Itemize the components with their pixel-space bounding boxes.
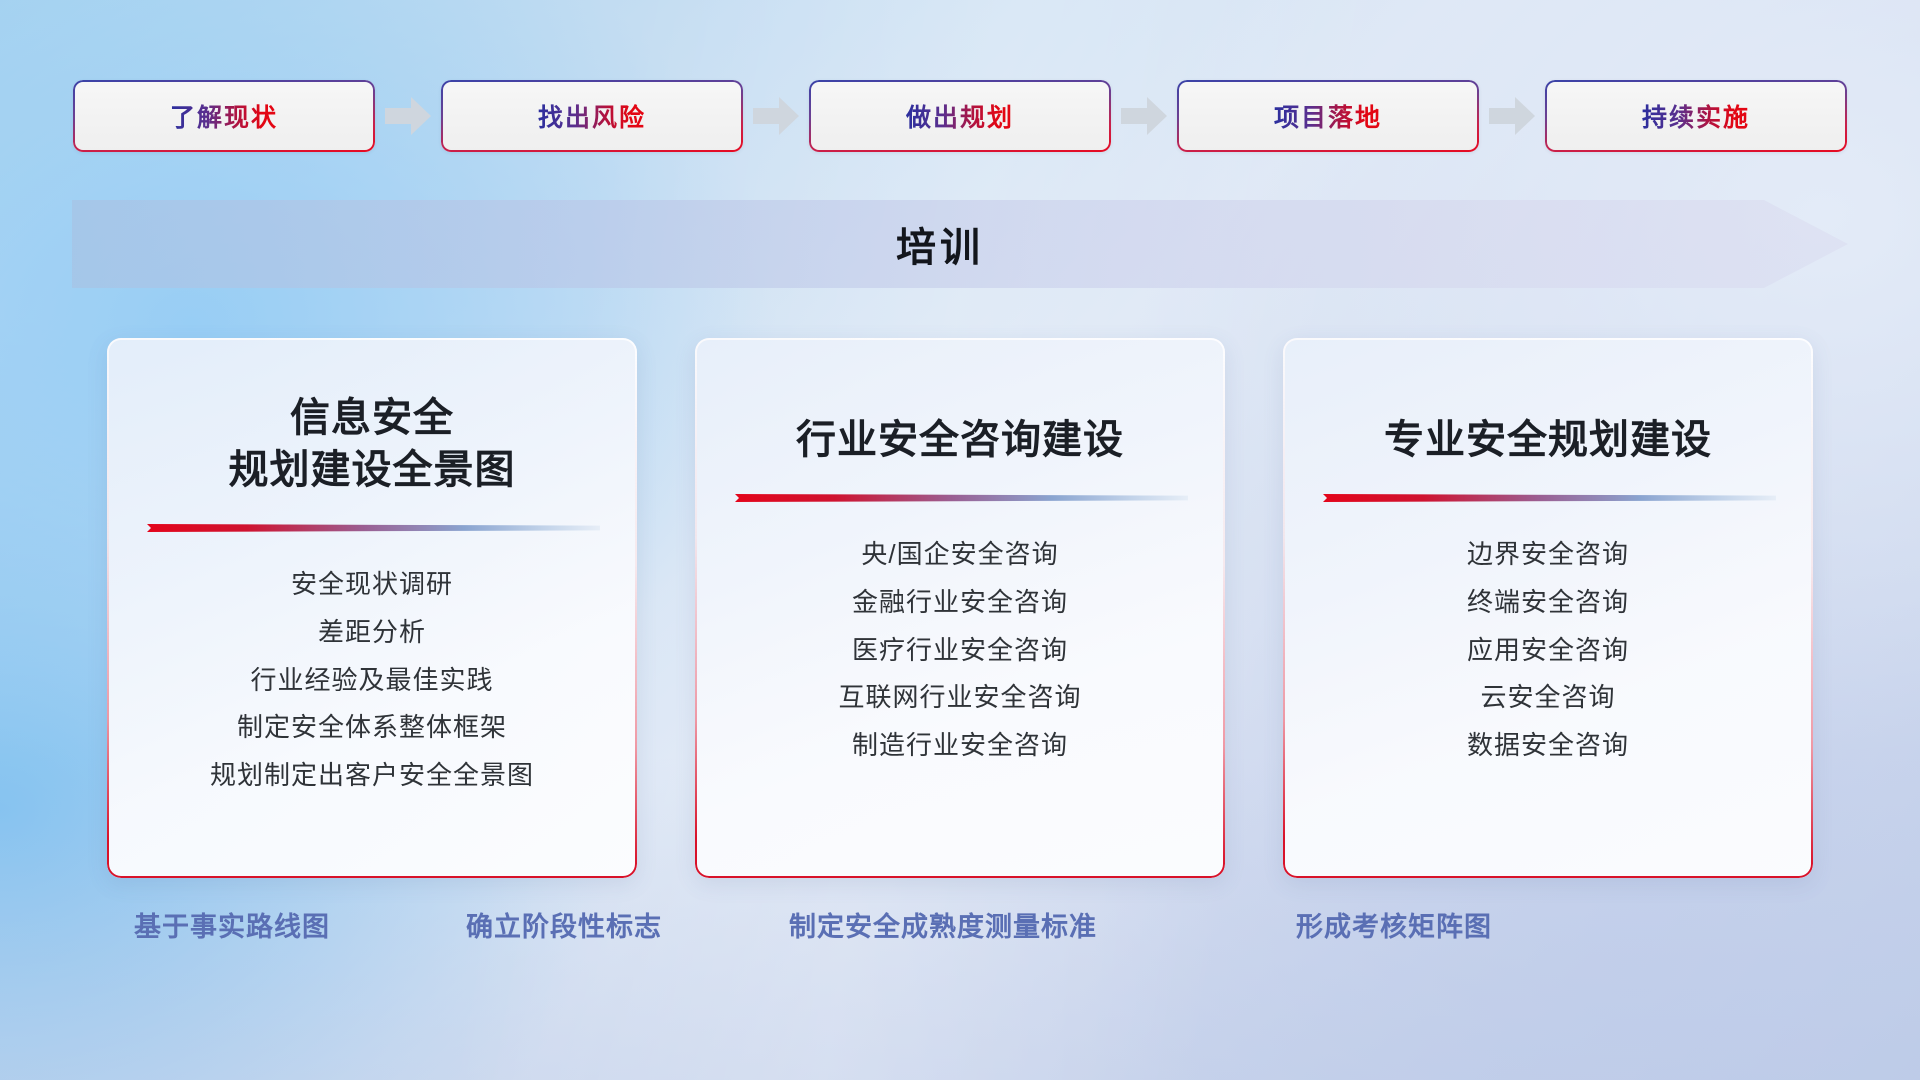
service-card-list: 安全现状调研差距分析行业经验及最佳实践制定安全体系整体框架规划制定出客户安全全景…: [210, 568, 534, 793]
service-card-list-item: 数据安全咨询: [1467, 729, 1629, 763]
service-card-list-item: 制定安全体系整体框架: [237, 711, 507, 745]
service-card-list: 边界安全咨询终端安全咨询应用安全咨询云安全咨询数据安全咨询: [1467, 538, 1629, 763]
footnote-3: 制定安全成熟度测量标准: [789, 905, 1097, 944]
card-divider-rule: [1321, 492, 1776, 504]
training-band-label: 培训: [72, 200, 1848, 288]
footnote-row: 基于事实路线图确立阶段性标志制定安全成熟度测量标准形成考核矩阵图: [0, 905, 1920, 961]
service-card-row: 信息安全 规划建设全景图安全现状调研差距分析行业经验及最佳实践制定安全体系整体框…: [0, 338, 1920, 878]
service-card-list-item: 规划制定出客户安全全景图: [210, 759, 534, 793]
process-step-4[interactable]: 项目落地: [1177, 80, 1479, 152]
process-step-1[interactable]: 了解现状: [73, 80, 375, 152]
process-step-label: 找出风险: [538, 98, 646, 134]
service-card-list-item: 医疗行业安全咨询: [852, 634, 1068, 668]
footnote-2: 确立阶段性标志: [466, 905, 662, 944]
card-divider-rule: [145, 522, 600, 534]
arrow-right-icon: [375, 80, 441, 152]
training-band: 培训: [72, 200, 1848, 288]
footnote-4: 形成考核矩阵图: [1296, 905, 1492, 944]
service-card-list-item: 云安全咨询: [1480, 681, 1615, 715]
service-card-list-item: 终端安全咨询: [1467, 586, 1629, 620]
service-card-1[interactable]: 信息安全 规划建设全景图安全现状调研差距分析行业经验及最佳实践制定安全体系整体框…: [107, 338, 637, 878]
service-card-list-item: 安全现状调研: [291, 568, 453, 602]
service-card-list-item: 制造行业安全咨询: [852, 729, 1068, 763]
slide-stage: 了解现状找出风险做出规划项目落地持续实施 培训 信息安全 规划建设全景图安全现状…: [0, 0, 1920, 1080]
service-card-list-item: 行业经验及最佳实践: [250, 664, 493, 698]
service-card-list: 央/国企安全咨询金融行业安全咨询医疗行业安全咨询互联网行业安全咨询制造行业安全咨…: [838, 538, 1081, 763]
process-step-label: 了解现状: [170, 98, 278, 134]
service-card-2[interactable]: 行业安全咨询建设央/国企安全咨询金融行业安全咨询医疗行业安全咨询互联网行业安全咨…: [695, 338, 1225, 878]
service-card-title: 行业安全咨询建设: [768, 414, 1152, 466]
service-card-list-item: 应用安全咨询: [1467, 634, 1629, 668]
arrow-right-icon: [1479, 80, 1545, 152]
process-step-label: 项目落地: [1274, 98, 1382, 134]
service-card-title: 信息安全 规划建设全景图: [201, 392, 544, 496]
card-divider-rule: [733, 492, 1188, 504]
process-step-5[interactable]: 持续实施: [1545, 80, 1847, 152]
footnote-1: 基于事实路线图: [134, 905, 330, 944]
process-step-label: 持续实施: [1642, 98, 1750, 134]
service-card-list-item: 边界安全咨询: [1467, 538, 1629, 572]
process-step-row: 了解现状找出风险做出规划项目落地持续实施: [0, 78, 1920, 154]
process-step-label: 做出规划: [906, 98, 1014, 134]
arrow-right-icon: [743, 80, 809, 152]
arrow-right-icon: [1111, 80, 1177, 152]
service-card-list-item: 央/国企安全咨询: [861, 538, 1058, 572]
service-card-title: 专业安全规划建设: [1356, 414, 1740, 466]
process-step-3[interactable]: 做出规划: [809, 80, 1111, 152]
service-card-list-item: 金融行业安全咨询: [852, 586, 1068, 620]
service-card-3[interactable]: 专业安全规划建设边界安全咨询终端安全咨询应用安全咨询云安全咨询数据安全咨询: [1283, 338, 1813, 878]
service-card-list-item: 互联网行业安全咨询: [838, 681, 1081, 715]
process-step-2[interactable]: 找出风险: [441, 80, 743, 152]
service-card-list-item: 差距分析: [318, 616, 426, 650]
